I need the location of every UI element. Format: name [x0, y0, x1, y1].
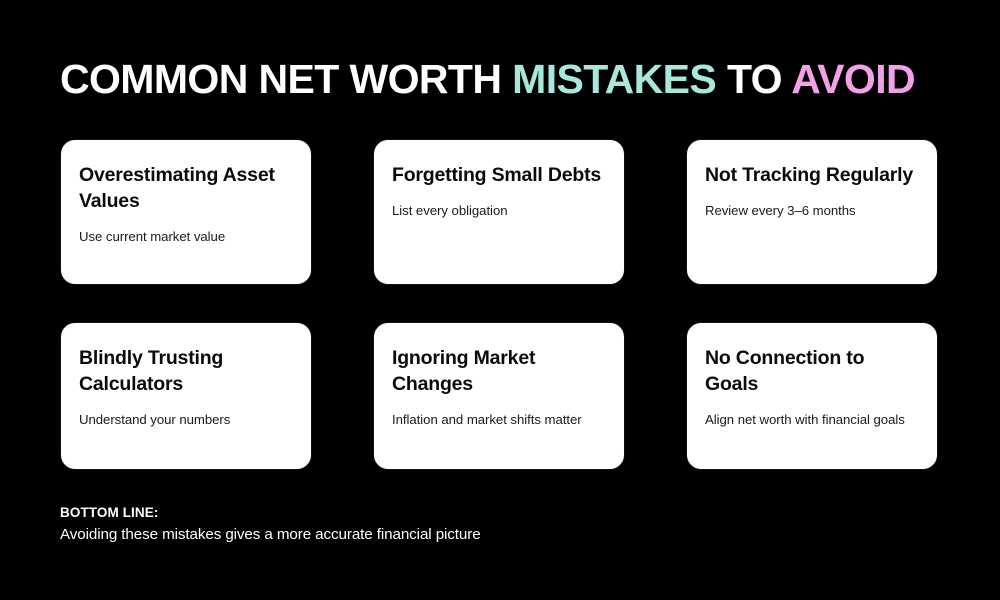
title-segment-plain-1: COMMON NET WORTH — [60, 56, 512, 102]
title-segment-highlight-avoid: AVOID — [791, 56, 915, 102]
bottom-line-text: Avoiding these mistakes gives a more acc… — [60, 524, 481, 546]
card-subtitle: Inflation and market shifts matter — [392, 411, 606, 429]
bottom-line-label: BOTTOM LINE: — [60, 503, 481, 523]
bottom-line-section: BOTTOM LINE: Avoiding these mistakes giv… — [60, 503, 481, 546]
card-subtitle: Align net worth with financial goals — [705, 411, 919, 429]
mistake-card[interactable]: Overestimating Asset Values Use current … — [60, 139, 312, 285]
infographic-canvas: COMMON NET WORTH MISTAKES TO AVOID Overe… — [0, 0, 1000, 600]
mistake-card-grid: Overestimating Asset Values Use current … — [60, 139, 940, 470]
card-title: Forgetting Small Debts — [392, 162, 606, 188]
title-segment-plain-2: TO — [716, 56, 791, 102]
card-subtitle: Use current market value — [79, 228, 293, 246]
page-title: COMMON NET WORTH MISTAKES TO AVOID — [60, 58, 915, 101]
card-title: No Connection to Goals — [705, 345, 919, 397]
card-title: Overestimating Asset Values — [79, 162, 293, 214]
mistake-card[interactable]: Ignoring Market Changes Inflation and ma… — [373, 322, 625, 470]
card-title: Ignoring Market Changes — [392, 345, 606, 397]
mistake-card[interactable]: No Connection to Goals Align net worth w… — [686, 322, 938, 470]
card-title: Blindly Trusting Calculators — [79, 345, 293, 397]
card-subtitle: Understand your numbers — [79, 411, 293, 429]
mistake-card[interactable]: Not Tracking Regularly Review every 3–6 … — [686, 139, 938, 285]
card-title: Not Tracking Regularly — [705, 162, 919, 188]
mistake-card[interactable]: Blindly Trusting Calculators Understand … — [60, 322, 312, 470]
card-subtitle: Review every 3–6 months — [705, 202, 919, 220]
title-segment-highlight-mistakes: MISTAKES — [512, 56, 716, 102]
card-subtitle: List every obligation — [392, 202, 606, 220]
mistake-card[interactable]: Forgetting Small Debts List every obliga… — [373, 139, 625, 285]
